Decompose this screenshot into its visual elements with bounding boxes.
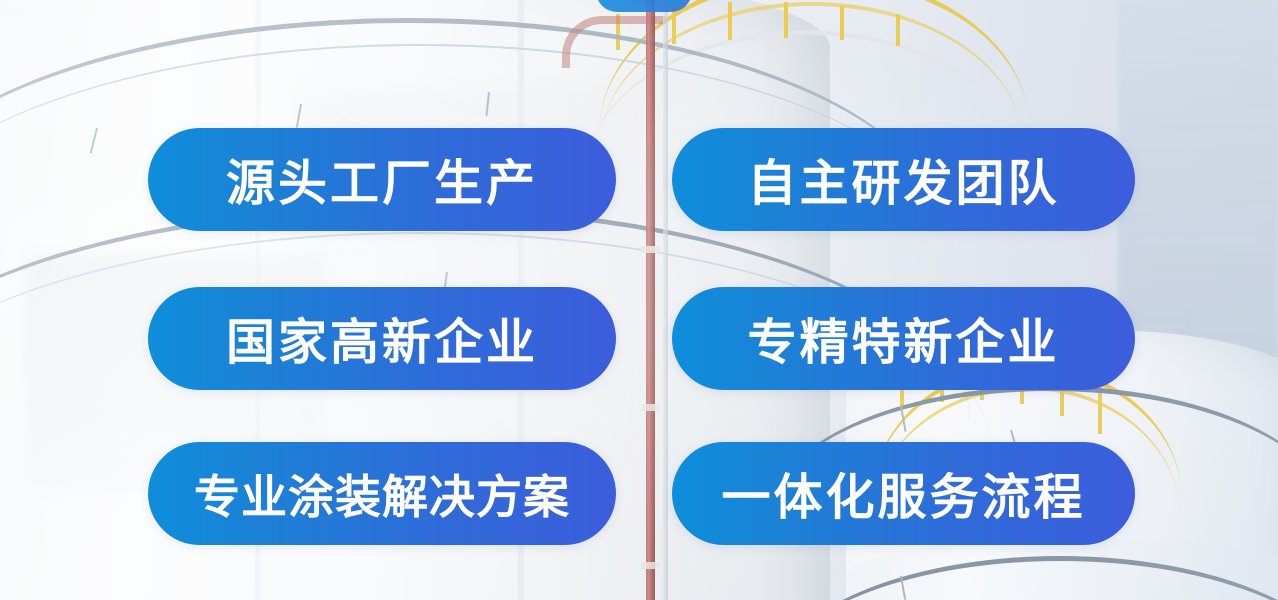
feature-pill-national-hi-tech-enterprise[interactable]: 国家高新企业 [148, 287, 616, 390]
feature-label: 专业涂装解决方案 [194, 461, 570, 527]
feature-pill-in-house-rnd-team[interactable]: 自主研发团队 [672, 128, 1135, 231]
feature-pill-grid: 源头工厂生产 自主研发团队 国家高新企业 专精特新企业 专业涂装解决方案 一体化… [0, 0, 1278, 600]
feature-pill-source-factory-production[interactable]: 源头工厂生产 [148, 128, 616, 231]
feature-label: 专精特新企业 [747, 303, 1059, 374]
feature-pill-integrated-service-process[interactable]: 一体化服务流程 [672, 442, 1135, 545]
feature-label: 一体化服务流程 [721, 458, 1085, 529]
feature-pill-specialized-new-enterprise[interactable]: 专精特新企业 [672, 287, 1135, 390]
feature-label: 自主研发团队 [747, 144, 1059, 215]
feature-label: 源头工厂生产 [226, 144, 538, 215]
feature-label: 国家高新企业 [226, 303, 538, 374]
feature-pill-professional-coating-solution[interactable]: 专业涂装解决方案 [148, 442, 616, 545]
advantages-banner: 源头工厂生产 自主研发团队 国家高新企业 专精特新企业 专业涂装解决方案 一体化… [0, 0, 1278, 600]
